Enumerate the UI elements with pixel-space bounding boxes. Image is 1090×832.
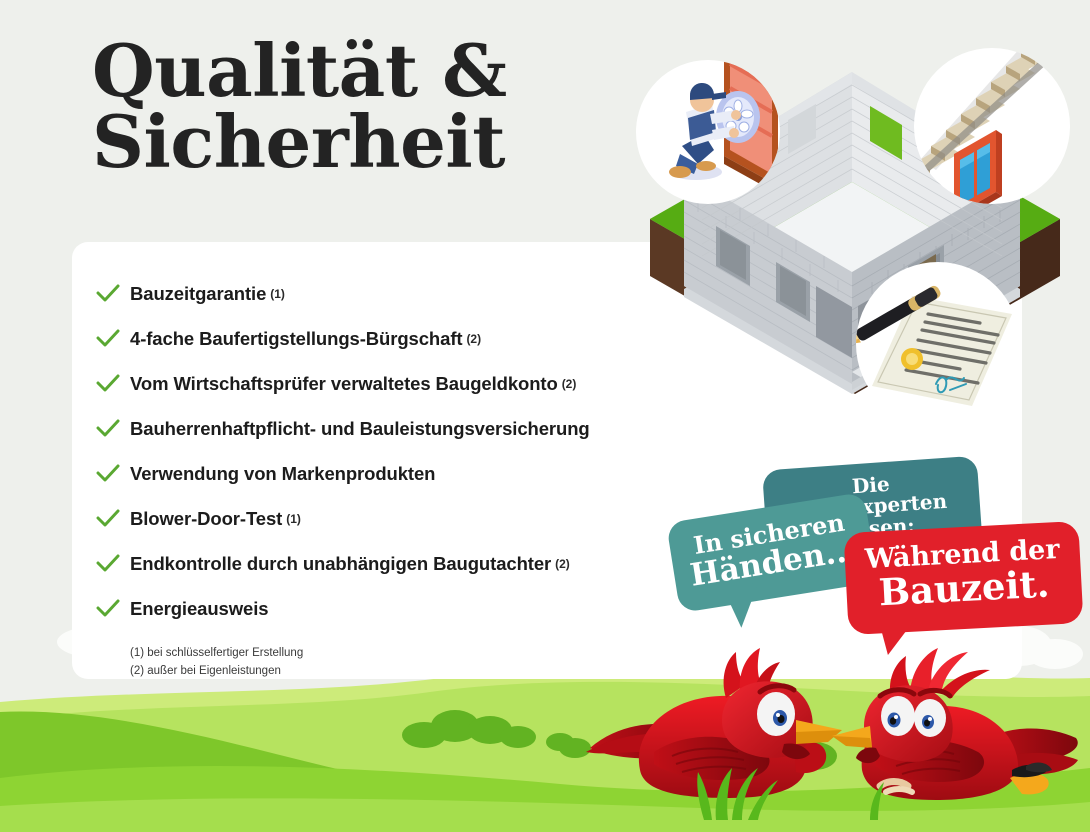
check-icon <box>96 329 130 349</box>
check-icon <box>96 464 130 484</box>
check-icon <box>96 284 130 304</box>
speech-bubble-bauzeit: Während der Bauzeit. <box>843 521 1083 635</box>
list-item: Bauherrenhaftpflicht- und Bauleistungsve… <box>96 407 696 451</box>
infographic-canvas: Qualität & Sicherheit Bauzeitgarantie (1… <box>0 0 1090 832</box>
page-title-line-2: Sicherheit <box>92 107 507 178</box>
list-item-footnote-marker: (2) <box>562 377 577 391</box>
list-item: Bauzeitgarantie (1) <box>96 272 696 316</box>
list-item-label: Bauzeitgarantie <box>130 283 266 305</box>
gold-seal <box>901 348 923 370</box>
list-item-label: Vom Wirtschaftsprüfer verwaltetes Baugel… <box>130 373 558 395</box>
list-item-footnote-marker: (1) <box>270 287 285 301</box>
list-item-label: Bauherrenhaftpflicht- und Bauleistungsve… <box>130 418 590 440</box>
page-title-line-1: Qualität & <box>92 36 507 107</box>
bird-left <box>586 648 842 798</box>
bird-right <box>832 648 1078 800</box>
list-item-label: Verwendung von Markenprodukten <box>130 463 435 485</box>
list-item: Verwendung von Markenprodukten <box>96 452 696 496</box>
list-item-footnote-marker: (2) <box>466 332 481 346</box>
list-item-label: Energieausweis <box>130 598 268 620</box>
list-item-label: 4-fache Baufertigstellungs-Bürgschaft <box>130 328 462 350</box>
list-item: Blower-Door-Test (1) <box>96 497 696 541</box>
list-item: 4-fache Baufertigstellungs-Bürgschaft (2… <box>96 317 696 361</box>
list-item-footnote-marker: (2) <box>555 557 570 571</box>
bird-characters <box>580 620 1090 820</box>
list-item-label: Blower-Door-Test <box>130 508 282 530</box>
bird-eye <box>757 692 795 736</box>
bird-eye <box>914 699 946 737</box>
check-icon <box>96 554 130 574</box>
list-item-footnote-marker: (1) <box>286 512 301 526</box>
check-icon <box>96 509 130 529</box>
check-icon <box>96 599 130 619</box>
list-item: Vom Wirtschaftsprüfer verwaltetes Baugel… <box>96 362 696 406</box>
check-icon <box>96 374 130 394</box>
bird-feet <box>880 782 912 793</box>
bubble-line-2: Bauzeit. <box>860 564 1069 615</box>
check-icon <box>96 419 130 439</box>
list-item: Endkontrolle durch unabhängigen Baugutac… <box>96 542 696 586</box>
list-item-label: Endkontrolle durch unabhängigen Baugutac… <box>130 553 551 575</box>
bird-eye <box>881 696 915 736</box>
page-title: Qualität & Sicherheit <box>92 36 507 177</box>
house-illustration <box>620 14 1090 434</box>
blower-door-worker-badge <box>636 32 780 204</box>
